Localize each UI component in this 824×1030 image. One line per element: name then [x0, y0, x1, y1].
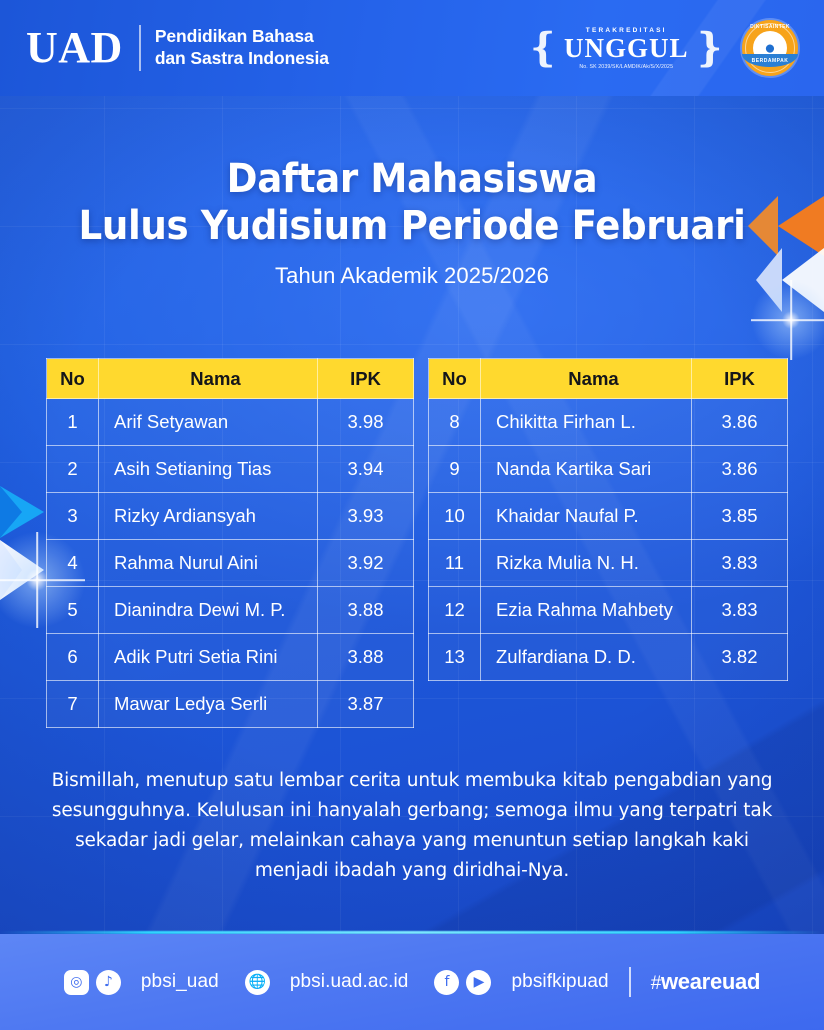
- table-header-row: No Nama IPK: [47, 359, 414, 399]
- cell-nama: Nanda Kartika Sari: [481, 446, 692, 493]
- table-row: 7Mawar Ledya Serli3.87: [47, 681, 414, 728]
- column-header-no: No: [47, 359, 99, 399]
- table-row: 12Ezia Rahma Mahbety3.83: [429, 587, 788, 634]
- cell-ipk: 3.83: [692, 587, 788, 634]
- table-body-right: 8Chikitta Firhan L.3.869Nanda Kartika Sa…: [429, 399, 788, 681]
- footer-divider: [629, 967, 631, 997]
- youtube-icon[interactable]: ▶: [466, 970, 491, 995]
- tiktok-icon[interactable]: ♪: [96, 970, 121, 995]
- cell-no: 12: [429, 587, 481, 634]
- table-row: 4Rahma Nurul Aini3.92: [47, 540, 414, 587]
- cell-ipk: 3.82: [692, 634, 788, 681]
- accreditation-label: TERAKREDITASI: [564, 27, 689, 34]
- cell-no: 11: [429, 540, 481, 587]
- table-header-row: No Nama IPK: [429, 359, 788, 399]
- cell-ipk: 3.92: [318, 540, 414, 587]
- white-chevron-left-decor-inner: [0, 540, 22, 600]
- cell-no: 6: [47, 634, 99, 681]
- cell-nama: Rizka Mulia N. H.: [481, 540, 692, 587]
- table-row: 8Chikitta Firhan L.3.86: [429, 399, 788, 446]
- cell-ipk: 3.86: [692, 399, 788, 446]
- facebook-handle[interactable]: pbsifkipuad: [511, 971, 608, 993]
- table-row: 1Arif Setyawan3.98: [47, 399, 414, 446]
- social-instagram-tiktok[interactable]: ◎ ♪ pbsi_uad: [64, 970, 219, 995]
- cell-ipk: 3.88: [318, 587, 414, 634]
- brand-divider: [139, 25, 141, 71]
- title-block: Daftar Mahasiswa Lulus Yudisium Periode …: [0, 156, 824, 289]
- cell-ipk: 3.85: [692, 493, 788, 540]
- table-row: 3Rizky Ardiansyah3.93: [47, 493, 414, 540]
- social-handle[interactable]: pbsi_uad: [141, 971, 219, 993]
- students-table-right: No Nama IPK 8Chikitta Firhan L.3.869Nand…: [428, 358, 788, 681]
- laurel-right-icon: ❵: [692, 28, 726, 68]
- cell-ipk: 3.83: [692, 540, 788, 587]
- table-row: 13Zulfardiana D. D.3.82: [429, 634, 788, 681]
- globe-icon[interactable]: 🌐: [245, 970, 270, 995]
- instagram-icon[interactable]: ◎: [64, 970, 89, 995]
- table-row: 5Dianindra Dewi M. P.3.88: [47, 587, 414, 634]
- badge-ring: [745, 23, 795, 73]
- cell-nama: Ezia Rahma Mahbety: [481, 587, 692, 634]
- students-table-left: No Nama IPK 1Arif Setyawan3.982Asih Seti…: [46, 358, 414, 728]
- poster-canvas: UAD Pendidikan Bahasa dan Sastra Indones…: [0, 0, 824, 1030]
- cell-nama: Adik Putri Setia Rini: [99, 634, 318, 681]
- badge-person-icon: ●: [764, 39, 775, 58]
- cell-nama: Mawar Ledya Serli: [99, 681, 318, 728]
- accreditation-group: ❴ TERAKREDITASI UNGGUL No. SK 2039/SK/LA…: [526, 20, 798, 76]
- program-name: Pendidikan Bahasa dan Sastra Indonesia: [155, 26, 329, 70]
- badge-top-text: DIKTISAINTEK: [742, 24, 798, 30]
- title-subtitle: Tahun Akademik 2025/2026: [0, 263, 824, 289]
- cell-ipk: 3.98: [318, 399, 414, 446]
- footer-bar: ◎ ♪ pbsi_uad 🌐 pbsi.uad.ac.id f ▶ pbsifk…: [0, 934, 824, 1030]
- cell-nama: Rizky Ardiansyah: [99, 493, 318, 540]
- cell-no: 2: [47, 446, 99, 493]
- closing-message: Bismillah, menutup satu lembar cerita un…: [44, 766, 780, 886]
- facebook-icon[interactable]: f: [434, 970, 459, 995]
- cell-no: 13: [429, 634, 481, 681]
- cell-no: 4: [47, 540, 99, 587]
- header-band: UAD Pendidikan Bahasa dan Sastra Indones…: [0, 0, 824, 96]
- table-row: 9Nanda Kartika Sari3.86: [429, 446, 788, 493]
- cell-ipk: 3.88: [318, 634, 414, 681]
- program-name-line1: Pendidikan Bahasa: [155, 26, 329, 48]
- cell-nama: Arif Setyawan: [99, 399, 318, 446]
- cell-no: 10: [429, 493, 481, 540]
- badge-inner-circle: ●: [753, 31, 787, 65]
- table-body-left: 1Arif Setyawan3.982Asih Setianing Tias3.…: [47, 399, 414, 728]
- campaign-hashtag: #weareuad: [651, 969, 760, 995]
- accreditation-grade: UNGGUL: [564, 35, 689, 62]
- cell-nama: Khaidar Naufal P.: [481, 493, 692, 540]
- cell-no: 5: [47, 587, 99, 634]
- table-row: 6Adik Putri Setia Rini3.88: [47, 634, 414, 681]
- brand-lockup: UAD Pendidikan Bahasa dan Sastra Indones…: [26, 25, 329, 71]
- cell-no: 8: [429, 399, 481, 446]
- hashtag-text: weareuad: [661, 969, 760, 994]
- cell-nama: Zulfardiana D. D.: [481, 634, 692, 681]
- cell-ipk: 3.93: [318, 493, 414, 540]
- table-row: 11Rizka Mulia N. H.3.83: [429, 540, 788, 587]
- laurel-left-icon: ❴: [526, 28, 560, 68]
- cell-ipk: 3.94: [318, 446, 414, 493]
- cyan-triangle-decor-inner: [0, 486, 22, 538]
- program-name-line2: dan Sastra Indonesia: [155, 48, 329, 70]
- website-url[interactable]: pbsi.uad.ac.id: [290, 971, 409, 993]
- accreditation-sk-number: No. SK 2039/SK/LAMDIK/Ak/S/X/2025: [564, 64, 689, 70]
- table-row: 10Khaidar Naufal P.3.85: [429, 493, 788, 540]
- cell-nama: Dianindra Dewi M. P.: [99, 587, 318, 634]
- cell-no: 3: [47, 493, 99, 540]
- badge-bottom-text: BERDAMPAK: [742, 54, 798, 67]
- column-header-ipk: IPK: [318, 359, 414, 399]
- column-header-no: No: [429, 359, 481, 399]
- cell-no: 1: [47, 399, 99, 446]
- cell-nama: Asih Setianing Tias: [99, 446, 318, 493]
- uad-logo-mark: UAD: [26, 26, 125, 70]
- table-row: 2Asih Setianing Tias3.94: [47, 446, 414, 493]
- column-header-nama: Nama: [99, 359, 318, 399]
- hashtag-symbol: #: [651, 973, 661, 994]
- cell-ipk: 3.87: [318, 681, 414, 728]
- column-header-ipk: IPK: [692, 359, 788, 399]
- cell-no: 9: [429, 446, 481, 493]
- column-header-nama: Nama: [481, 359, 692, 399]
- cell-ipk: 3.86: [692, 446, 788, 493]
- tables-container: No Nama IPK 1Arif Setyawan3.982Asih Seti…: [46, 358, 788, 728]
- title-line-1: Daftar Mahasiswa: [29, 156, 795, 203]
- accreditation-seal: ❴ TERAKREDITASI UNGGUL No. SK 2039/SK/LA…: [526, 27, 726, 70]
- title-line-2: Lulus Yudisium Periode Februari: [29, 203, 795, 250]
- social-facebook-youtube[interactable]: f ▶ pbsifkipuad: [434, 970, 608, 995]
- website-link[interactable]: 🌐 pbsi.uad.ac.id: [245, 970, 409, 995]
- cell-no: 7: [47, 681, 99, 728]
- cell-nama: Chikitta Firhan L.: [481, 399, 692, 446]
- diktisaintek-badge-icon: DIKTISAINTEK ● BERDAMPAK: [742, 20, 798, 76]
- cell-nama: Rahma Nurul Aini: [99, 540, 318, 587]
